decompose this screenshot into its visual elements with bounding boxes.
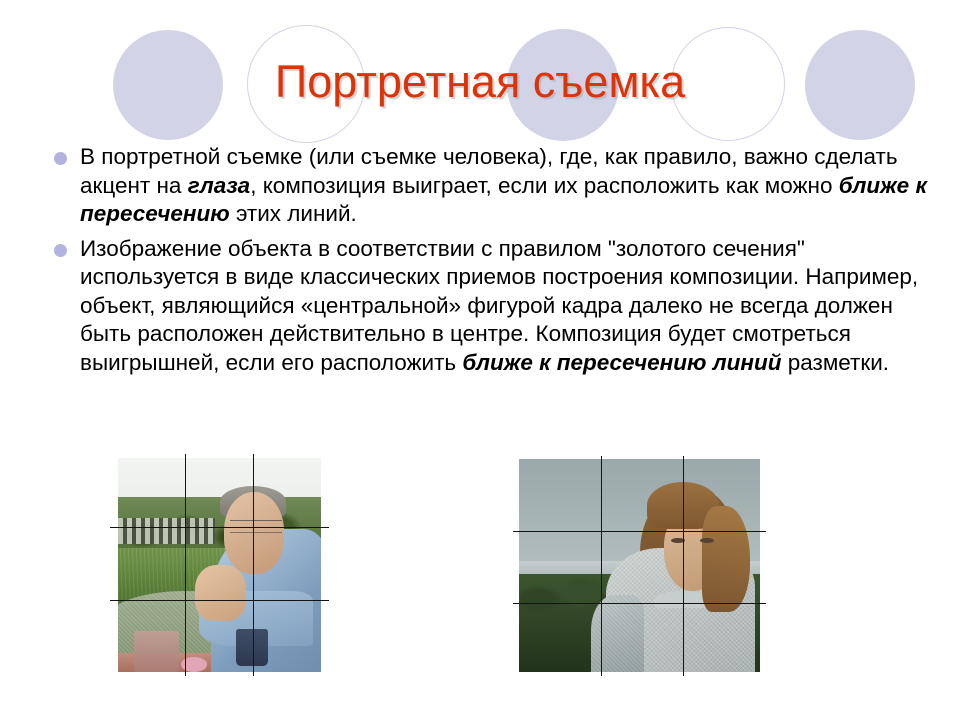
disc-bullet-icon <box>54 152 67 165</box>
photo-left-glass <box>134 631 179 672</box>
photo-left-glasses <box>230 520 283 533</box>
bullet-1-segment-5: этих линий. <box>230 201 357 226</box>
photo-left-mug <box>236 629 268 665</box>
photo-left-portrait-man <box>118 458 321 672</box>
photo-left-fence <box>118 518 215 544</box>
bullet-2-segment-2-emphasis: ближе к пересечению линий <box>462 350 781 375</box>
photo-right-arm <box>591 595 644 672</box>
photo-left-image <box>118 458 321 672</box>
photo-right-hair-side <box>702 506 750 613</box>
photo-left-flower <box>181 657 207 672</box>
bullet-1-segment-3: , композиция выиграет, если их расположи… <box>250 173 839 198</box>
bullet-text-2: Изображение объекта в соответствии с пра… <box>80 235 934 378</box>
bullet-item-2: Изображение объекта в соответствии с пра… <box>54 235 934 378</box>
disc-bullet-icon <box>54 244 67 257</box>
photo-right-portrait-woman <box>519 459 760 672</box>
photo-left-head <box>224 492 285 573</box>
bullet-2-segment-3: разметки. <box>781 350 889 375</box>
bullet-text-1: В портретной съемке (или съемке человека… <box>80 143 934 229</box>
photo-right-image <box>519 459 760 672</box>
slide-title: Портретная съемка <box>0 56 960 108</box>
bullet-item-1: В портретной съемке (или съемке человека… <box>54 143 934 229</box>
photo-left-hands <box>195 565 246 621</box>
slide-body: В портретной съемке (или съемке человека… <box>54 143 934 383</box>
bullet-1-segment-2-emphasis: глаза <box>188 173 251 198</box>
